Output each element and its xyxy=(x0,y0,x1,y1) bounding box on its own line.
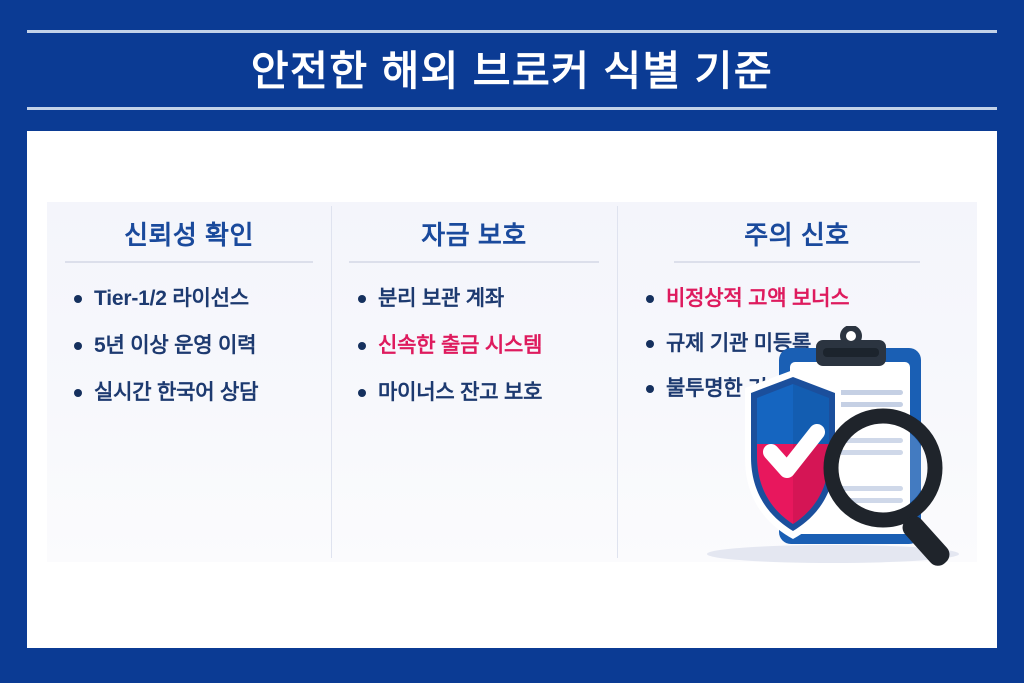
content-card: 신뢰성 확인 Tier-1/2 라이선스 5년 이상 운영 이력 실시간 한국어… xyxy=(27,131,997,648)
page-title: 안전한 해외 브로커 식별 기준 xyxy=(0,40,1024,102)
header-rule-top xyxy=(27,30,997,33)
list-item: Tier-1/2 라이선스 xyxy=(73,285,313,312)
header: 안전한 해외 브로커 식별 기준 xyxy=(0,0,1024,131)
infographic-canvas: 안전한 해외 브로커 식별 기준 신뢰성 확인 Tier-1/2 라이선스 5년… xyxy=(0,0,1024,683)
criteria-panel: 신뢰성 확인 Tier-1/2 라이선스 5년 이상 운영 이력 실시간 한국어… xyxy=(47,202,977,562)
checkbox-row-2 xyxy=(800,435,903,459)
criteria-column-funds: 자금 보호 분리 보관 계좌 신속한 출금 시스템 마이너스 잔고 보호 xyxy=(331,202,617,562)
column-title-trust: 신뢰성 확인 xyxy=(65,218,313,252)
list-item: 분리 보관 계좌 xyxy=(357,285,599,312)
list-item-highlighted: 신속한 출금 시스템 xyxy=(357,332,599,359)
list-item: 마이너스 잔고 보호 xyxy=(357,379,599,406)
list-item: 규제 기관 미등록 xyxy=(645,330,959,357)
magnifier-icon xyxy=(831,416,954,566)
checkbox-row-3 xyxy=(800,483,903,507)
list-item: 실시간 한국어 상담 xyxy=(73,379,313,406)
criteria-column-warning: 주의 신호 비정상적 고액 보너스 규제 기관 미등록 불투명한 거래 조건 xyxy=(617,202,977,562)
column-title-warning: 주의 신호 xyxy=(635,218,959,252)
criteria-column-trust: 신뢰성 확인 Tier-1/2 라이선스 5년 이상 운영 이력 실시간 한국어… xyxy=(47,202,331,562)
column-title-funds: 자금 보호 xyxy=(349,218,599,252)
bullet-list-warning: 비정상적 고액 보너스 규제 기관 미등록 불투명한 거래 조건 xyxy=(635,263,959,402)
bullet-list-funds: 분리 보관 계좌 신속한 출금 시스템 마이너스 잔고 보호 xyxy=(349,263,599,406)
bullet-list-trust: Tier-1/2 라이선스 5년 이상 운영 이력 실시간 한국어 상담 xyxy=(65,263,313,406)
list-item-highlighted: 비정상적 고액 보너스 xyxy=(645,285,959,312)
list-item: 5년 이상 운영 이력 xyxy=(73,332,313,359)
list-item: 불투명한 거래 조건 xyxy=(645,375,831,402)
header-rule-bottom xyxy=(27,107,997,110)
